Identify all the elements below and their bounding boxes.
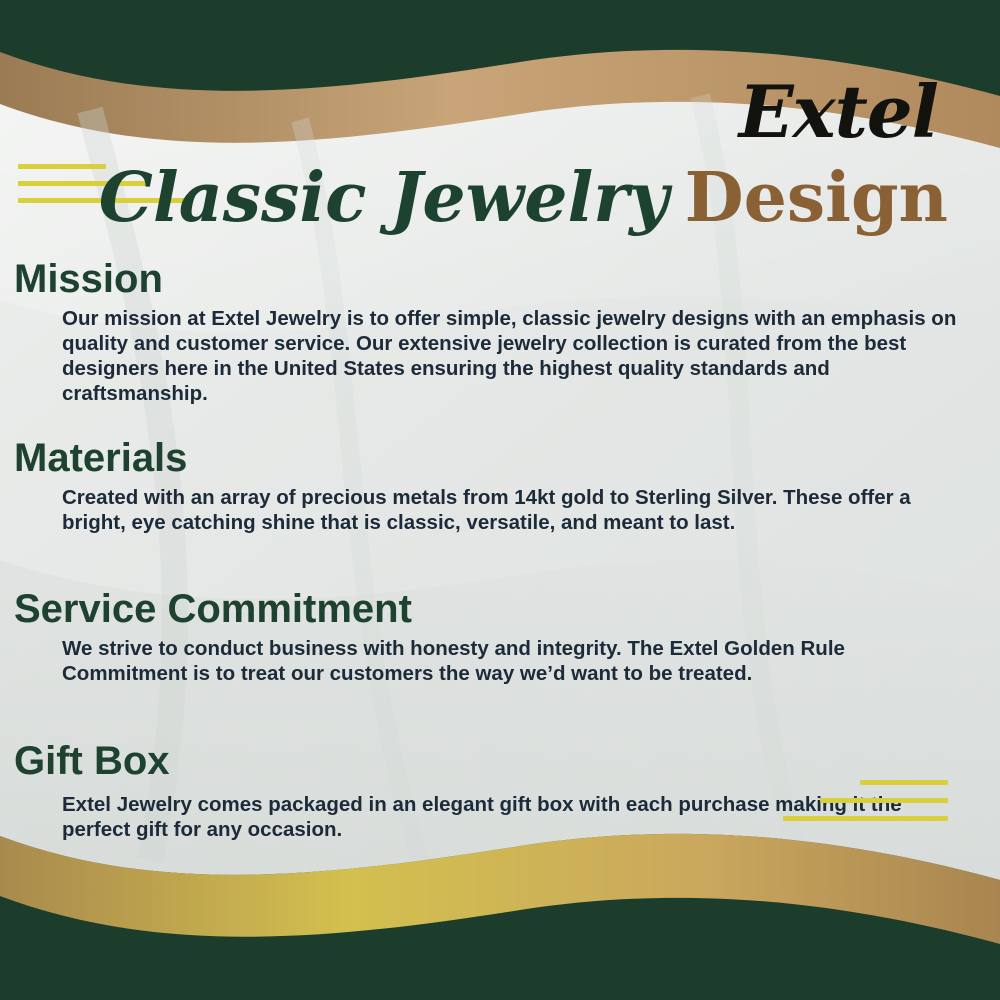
title-main: Classic Jewelry bbox=[99, 158, 669, 238]
section-heading: Materials bbox=[14, 437, 970, 479]
poster-content: Extel Classic JewelryDesign Mission Our … bbox=[0, 0, 1000, 1000]
section-heading: Service Commitment bbox=[14, 588, 970, 630]
section-body: Our mission at Extel Jewelry is to offer… bbox=[62, 306, 970, 406]
brand-wordmark: Extel bbox=[739, 76, 938, 148]
section-body: We strive to conduct business with hones… bbox=[62, 636, 970, 686]
decorative-dashes-right bbox=[783, 780, 948, 834]
poster-canvas: Extel Classic JewelryDesign Mission Our … bbox=[0, 0, 1000, 1000]
title-accent: Design bbox=[685, 158, 948, 238]
dash-line bbox=[820, 798, 948, 803]
poster-title: Classic JewelryDesign bbox=[0, 158, 948, 238]
dash-line bbox=[783, 816, 948, 821]
section-materials: Materials Created with an array of preci… bbox=[14, 437, 970, 535]
dash-line bbox=[860, 780, 948, 785]
section-service-commitment: Service Commitment We strive to conduct … bbox=[14, 588, 970, 686]
section-body: Created with an array of precious metals… bbox=[62, 485, 970, 535]
section-heading: Mission bbox=[14, 258, 970, 300]
section-mission: Mission Our mission at Extel Jewelry is … bbox=[14, 258, 970, 406]
section-heading: Gift Box bbox=[14, 740, 970, 782]
